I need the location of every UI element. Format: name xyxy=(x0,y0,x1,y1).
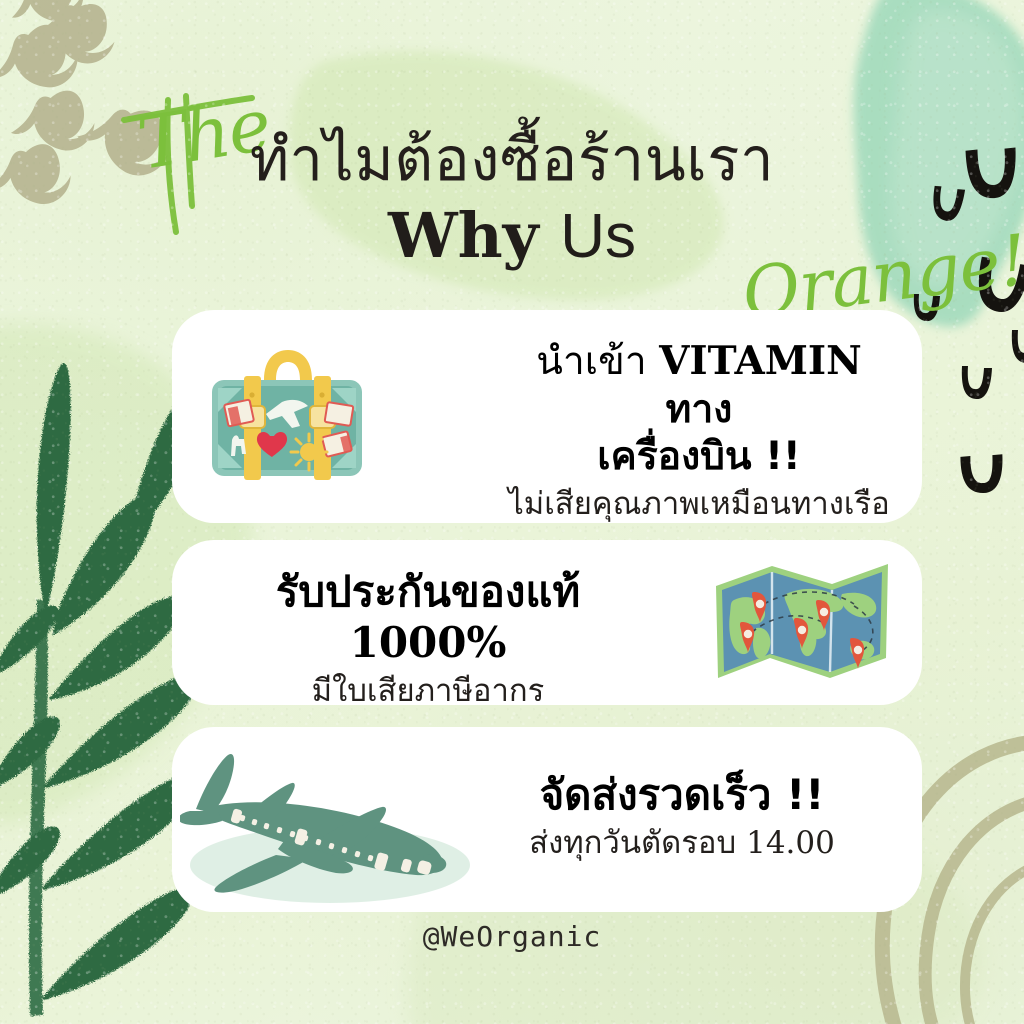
title-why: Why xyxy=(388,199,539,272)
card3-line1: จัดส่งรวดเร็ว !! xyxy=(472,769,892,820)
benefit-card-fast-delivery[interactable]: จัดส่งรวดเร็ว !! ส่งทุกวันตัดรอบ 14.00 xyxy=(172,727,922,912)
card3-text-block: จัดส่งรวดเร็ว !! ส่งทุกวันตัดรอบ 14.00 xyxy=(472,769,892,864)
card1-line1: นำเข้า VITAMIN ทาง xyxy=(502,338,896,433)
card1-subtitle: ไม่เสียคุณภาพเหมือนทางเรือ xyxy=(502,484,896,523)
card2-subtitle: มีใบเสียภาษีอากร xyxy=(194,671,662,705)
u-brush-marks-icon xyxy=(914,146,1024,495)
leaf-branch-icon xyxy=(0,363,200,1016)
page-title-thai: ทำไมต้องซื้อร้านเรา xyxy=(0,128,1024,191)
card3-subtitle: ส่งทุกวันตัดรอบ 14.00 xyxy=(472,823,892,863)
social-handle: @WeOrganic xyxy=(0,920,1024,953)
poster-canvas: The ทำไมต้องซื้อร้านเรา Why Us Orange! xyxy=(0,0,1024,1024)
card2-text-block: รับประกันของแท้ 1000% มีใบเสียภาษีอากร xyxy=(194,566,662,705)
world-map-icon xyxy=(708,554,898,690)
card1-line2: เครื่องบิน !! xyxy=(502,433,896,481)
title-us: Us xyxy=(560,202,636,271)
benefit-card-air-import[interactable]: นำเข้า VITAMIN ทาง เครื่องบิน !! ไม่เสีย… xyxy=(172,310,922,523)
card1-text-block: นำเข้า VITAMIN ทาง เครื่องบิน !! ไม่เสีย… xyxy=(502,338,896,523)
benefit-card-authentic-guarantee[interactable]: รับประกันของแท้ 1000% มีใบเสียภาษีอากร xyxy=(172,540,922,705)
suitcase-icon xyxy=(196,336,378,498)
card2-line1: รับประกันของแท้ 1000% xyxy=(194,566,662,668)
airplane-icon xyxy=(180,737,470,907)
